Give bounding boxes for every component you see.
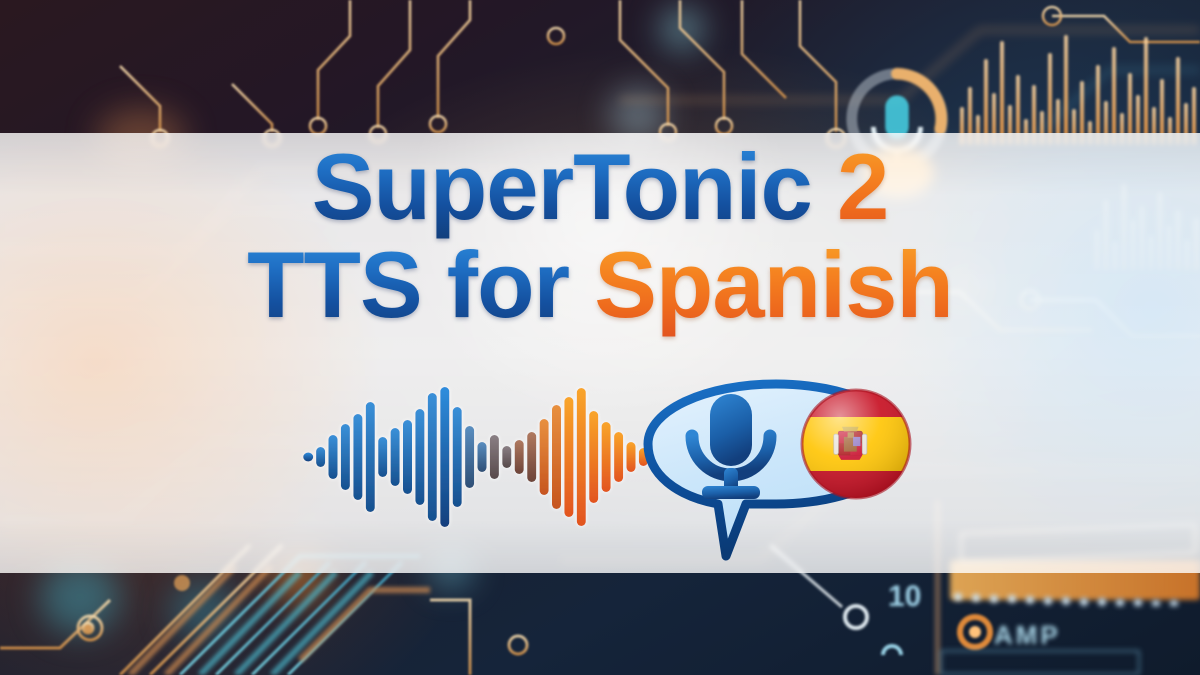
title-line-1: SuperTonic 2 xyxy=(0,140,1200,234)
waveform-bar xyxy=(502,446,511,468)
waveform-bar xyxy=(391,428,400,486)
waveform-bar xyxy=(527,432,536,482)
waveform-bar xyxy=(614,432,623,482)
waveform-bar xyxy=(303,453,313,462)
title-product-name: SuperTonic xyxy=(312,134,812,239)
waveform-bar xyxy=(552,405,561,509)
waveform-bar xyxy=(465,426,474,488)
speech-bubble-svg xyxy=(640,368,920,568)
banner-image: 10 AMP SuperTonic 2 xyxy=(0,0,1200,675)
waveform-bar xyxy=(353,414,362,500)
title-block: SuperTonic 2 TTS for Spanish xyxy=(0,140,1200,332)
waveform-bar xyxy=(440,387,449,527)
title-line-2: TTS for Spanish xyxy=(0,238,1200,332)
waveform-bar xyxy=(453,407,462,507)
waveform-bar xyxy=(589,411,598,503)
waveform-bar xyxy=(490,435,499,479)
waveform-bar xyxy=(627,442,636,472)
title-version-number: 2 xyxy=(837,134,888,239)
device-led-row xyxy=(952,592,1200,606)
waveform-bar xyxy=(478,442,487,472)
waveform-bar xyxy=(540,419,549,495)
waveform-bar xyxy=(577,388,586,526)
waveform-bar xyxy=(378,437,387,477)
device-panel-dark xyxy=(940,650,1140,675)
audio-waveform-icon xyxy=(300,382,660,522)
waveform-bar xyxy=(602,422,611,492)
waveform-bar xyxy=(341,424,350,490)
waveform-bar xyxy=(428,393,437,521)
background-waveform-icon xyxy=(960,20,1200,145)
waveform-bar xyxy=(403,420,412,494)
title-space xyxy=(812,134,837,239)
circuit-diagonals-icon xyxy=(0,560,520,675)
audio-waveform-svg xyxy=(300,382,660,532)
waveform-bar xyxy=(415,409,424,505)
speech-bubble-icon xyxy=(640,368,920,568)
device-readout-label: AMP xyxy=(994,620,1061,651)
waveform-bar xyxy=(564,397,573,517)
title-subtitle-language: Spanish xyxy=(594,232,953,337)
title-subtitle-prefix: TTS for xyxy=(247,232,594,337)
device-knob-icon xyxy=(952,612,998,652)
spain-flag-icon xyxy=(802,390,910,498)
waveform-bar xyxy=(366,402,375,512)
waveform-bar xyxy=(515,440,524,474)
waveform-bar xyxy=(316,447,325,467)
waveform-bar xyxy=(329,435,338,479)
